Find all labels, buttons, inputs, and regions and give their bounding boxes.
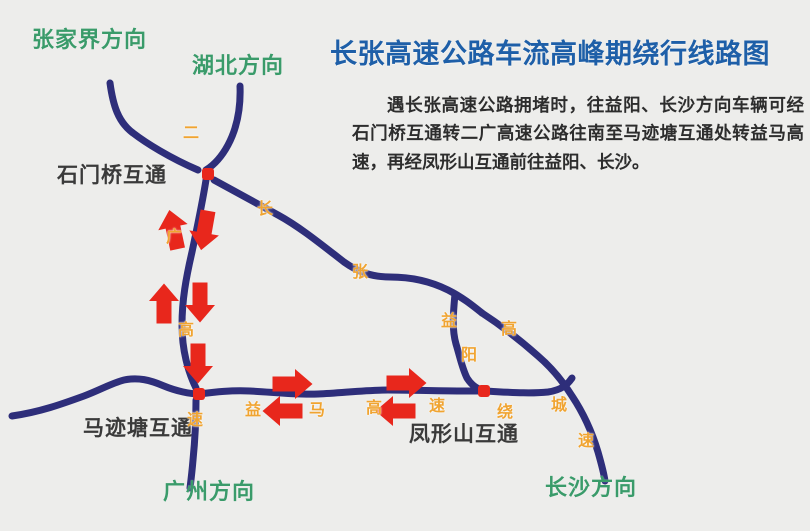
yima-su-road-label: 速: [429, 398, 445, 414]
hubei-direction-label: 湖北方向: [192, 56, 284, 78]
yiyang-yi-road-label: 益: [441, 313, 457, 329]
majitang-interchange-label: 马迹塘互通: [83, 418, 193, 439]
road-segment: [214, 180, 482, 313]
flow-arrow: [263, 396, 303, 426]
road-network: [0, 0, 810, 531]
yima-gao-road-label: 高: [366, 400, 382, 416]
description-block: 遇长张高速公路拥堵时，往益阳、长沙方向车辆可经石门桥互通转二广高速公路往南至马迹…: [352, 92, 804, 177]
yima-yi-road-label: 益: [245, 402, 261, 418]
junction-marker[interactable]: [478, 385, 490, 397]
junction-marker[interactable]: [202, 168, 214, 180]
changsha-direction-label: 长沙方向: [545, 478, 637, 500]
yima-ma-road-label: 马: [309, 402, 325, 418]
erguang-er-road-label: 二: [183, 125, 199, 141]
fengxingshan-interchange-label: 凤形山互通: [409, 424, 519, 445]
road-segment: [199, 390, 484, 394]
title-block: 长张高速公路车流高峰期绕行线路图: [330, 32, 802, 71]
flow-arrow: [185, 283, 215, 323]
gao-right-road-label: 高: [501, 321, 517, 337]
raocheng-cheng-road-label: 城: [551, 397, 567, 413]
description-text: 遇长张高速公路拥堵时，往益阳、长沙方向车辆可经石门桥互通转二广高速公路往南至马迹…: [352, 92, 804, 177]
yiyang-yang-road-label: 阳: [461, 347, 477, 363]
erguang-su-road-label: 速: [187, 412, 203, 428]
changzhang-chang-road-label: 长: [257, 201, 273, 217]
flow-arrow: [149, 284, 179, 324]
road-segment: [12, 379, 199, 416]
map-canvas: 张家界方向湖北方向广州方向长沙方向 石门桥互通马迹塘互通凤形山互通 二广高速长张…: [0, 0, 810, 531]
junction-marker[interactable]: [193, 388, 205, 400]
raocheng-rao-road-label: 绕: [497, 404, 513, 420]
shimenqiao-interchange-label: 石门桥互通: [57, 165, 167, 186]
erguang-guang-road-label: 广: [166, 229, 182, 245]
road-segment: [206, 86, 240, 170]
page-title: 长张高速公路车流高峰期绕行线路图: [330, 32, 802, 71]
zhangjiajie-direction-label: 张家界方向: [32, 30, 147, 52]
junctions-group: [193, 168, 490, 400]
erguang-gao-road-label: 高: [178, 322, 194, 338]
road-segment: [482, 313, 605, 481]
changsha-su-road-label: 速: [578, 433, 594, 449]
guangzhou-direction-label: 广州方向: [163, 482, 255, 504]
changzhang-zhang-road-label: 张: [352, 264, 368, 280]
